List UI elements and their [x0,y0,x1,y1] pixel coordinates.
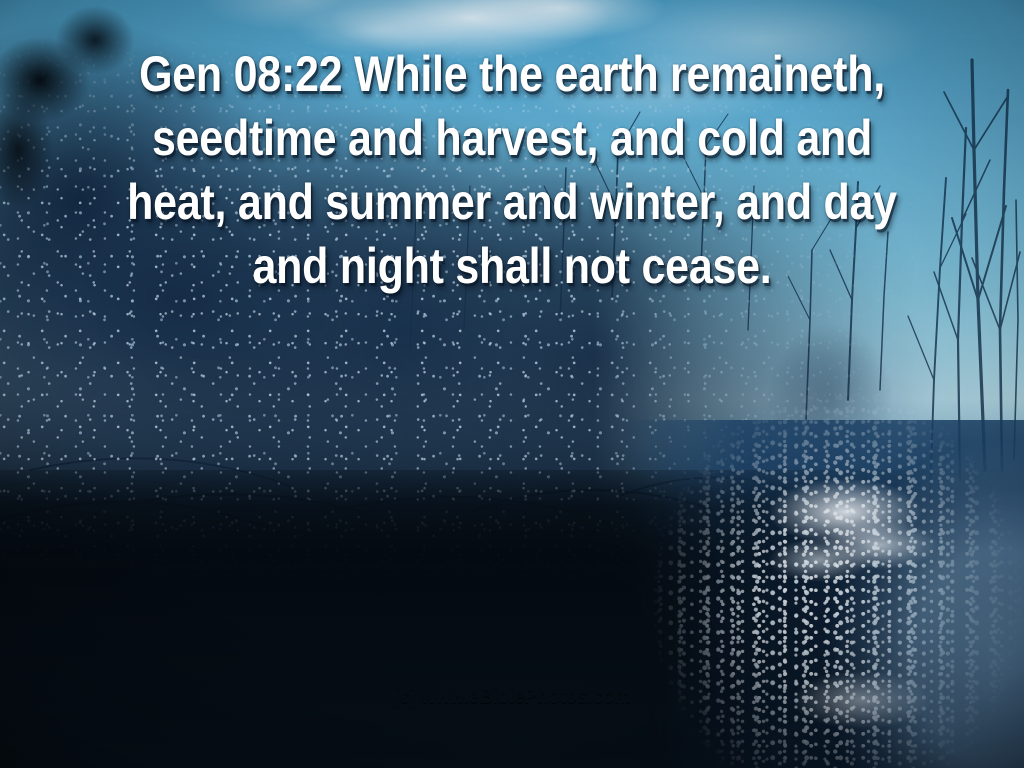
watermark-text: [c] www.eBiblePhotos.com [393,686,631,708]
verse-photo-canvas: Gen 08:22 While the earth remaineth, see… [0,0,1024,768]
copyright-watermark: [c] www.eBiblePhotos.com [0,686,1024,708]
verse-line-4: and night shall not cease. [111,234,913,298]
river-water-foreground [0,470,1024,768]
river-water-right [620,420,1024,768]
verse-line-2: seedtime and harvest, and cold and [111,106,913,170]
verse-line-1: Gen 08:22 While the earth remaineth, [111,42,913,106]
scripture-verse-overlay: Gen 08:22 While the earth remaineth, see… [0,42,1024,298]
verse-line-3: heat, and summer and winter, and day [111,170,913,234]
